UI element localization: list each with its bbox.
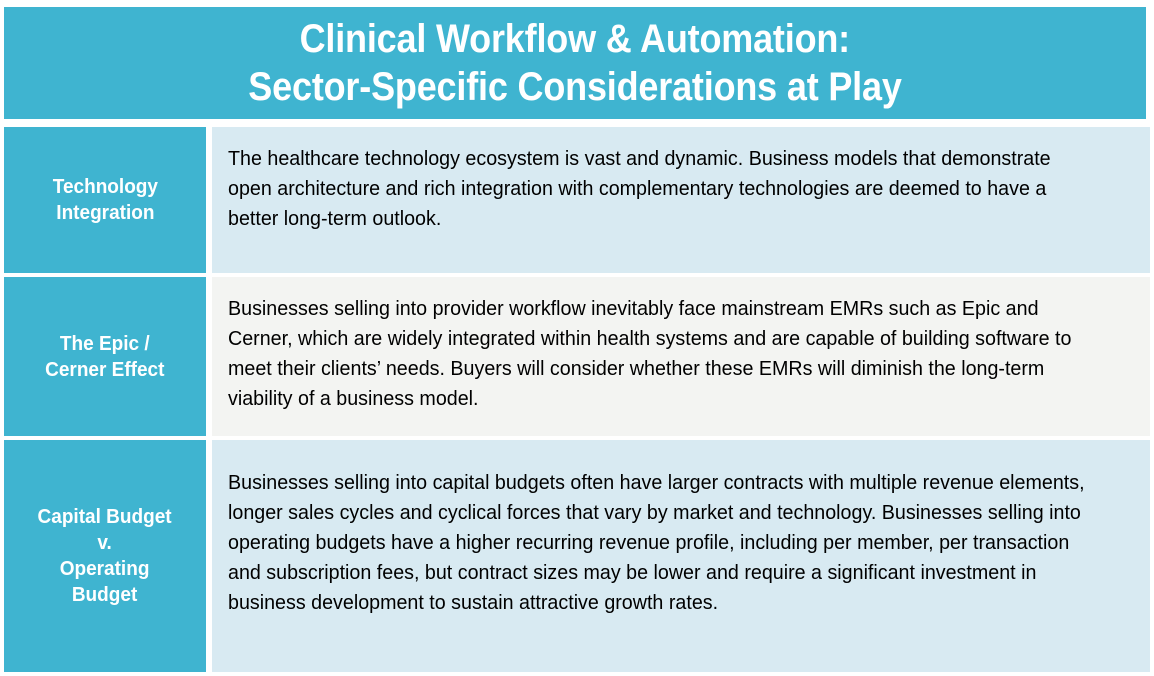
row-body-text: The healthcare technology ecosystem is v…	[228, 144, 1090, 234]
considerations-table: Technology Integration The healthcare te…	[4, 127, 1150, 672]
row-body-capital-v-operating-budget: Businesses selling into capital budgets …	[212, 440, 1150, 672]
title-line-1: Clinical Workflow & Automation:	[300, 15, 850, 63]
row-body-text: Businesses selling into capital budgets …	[228, 468, 1090, 618]
row-label-epic-cerner-effect: The Epic / Cerner Effect	[4, 277, 206, 437]
row-body-text: Businesses selling into provider workflo…	[228, 294, 1090, 414]
title-line-2: Sector-Specific Considerations at Play	[248, 63, 901, 111]
row-label-technology-integration: Technology Integration	[4, 127, 206, 273]
table-row: Capital Budget v. Operating Budget Busin…	[4, 440, 1150, 672]
row-label-capital-v-operating-budget: Capital Budget v. Operating Budget	[4, 440, 206, 672]
slide-root: Clinical Workflow & Automation: Sector-S…	[0, 0, 1154, 676]
table-row: Technology Integration The healthcare te…	[4, 127, 1150, 273]
row-label-text: Capital Budget v. Operating Budget	[38, 504, 172, 608]
title-banner: Clinical Workflow & Automation: Sector-S…	[4, 7, 1146, 119]
row-label-text: Technology Integration	[52, 174, 157, 226]
row-body-technology-integration: The healthcare technology ecosystem is v…	[212, 127, 1150, 273]
table-row: The Epic / Cerner Effect Businesses sell…	[4, 277, 1150, 437]
row-body-epic-cerner-effect: Businesses selling into provider workflo…	[212, 277, 1150, 437]
row-label-text: The Epic / Cerner Effect	[45, 331, 164, 383]
